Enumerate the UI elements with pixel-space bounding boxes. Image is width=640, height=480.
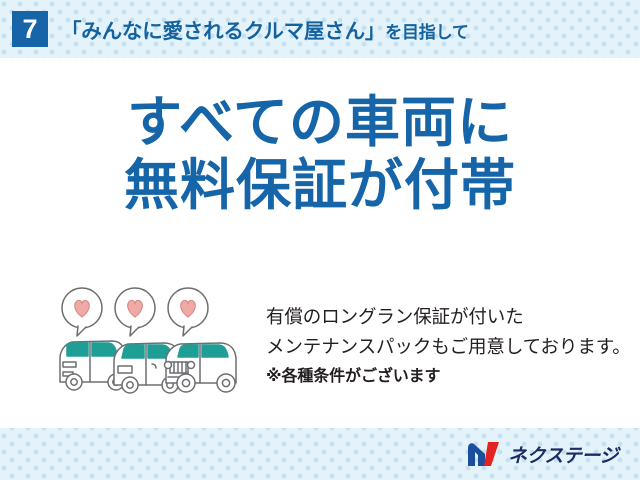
headline-line-1: すべての車両に	[0, 94, 640, 151]
body-text-block: 有償のロングラン保証が付いた メンテナンスパックもご用意しております。 ※各種条…	[266, 286, 640, 390]
header-tagline-tail: を目指して	[385, 18, 469, 43]
header: 7 「みんなに愛されるクルマ屋さん」 を目指して	[0, 0, 640, 58]
content-panel: すべての車両に 無料保証が付帯	[0, 58, 640, 428]
lower-content-row: 有償のロングラン保証が付いた メンテナンスパックもご用意しております。 ※各種条…	[0, 286, 640, 396]
headline-line-2: 無料保証が付帯	[0, 157, 640, 214]
brand-logo: ネクステージ	[467, 441, 618, 468]
headline: すべての車両に 無料保証が付帯	[0, 94, 640, 213]
step-number-badge: 7	[12, 11, 48, 47]
cars-illustration	[52, 286, 252, 396]
heart-bubble-3	[168, 288, 208, 336]
nexstage-n-mark-icon	[467, 441, 501, 467]
cars-illustration-svg	[52, 286, 252, 396]
footer: ネクステージ	[0, 428, 640, 480]
promo-banner: 7 「みんなに愛されるクルマ屋さん」 を目指して すべての車両に 無料保証が付帯	[0, 0, 640, 480]
header-tagline-quote: 「みんなに愛されるクルマ屋さん」	[61, 14, 385, 44]
body-line-2: メンテナンスパックもご用意しております。	[266, 332, 640, 362]
body-note: ※各種条件がございます	[266, 364, 640, 390]
body-line-1: 有償のロングラン保証が付いた	[266, 302, 640, 332]
header-tagline: 「みんなに愛されるクルマ屋さん」 を目指して	[61, 14, 469, 44]
heart-bubble-2	[115, 288, 155, 336]
brand-name: ネクステージ	[508, 441, 618, 468]
heart-bubble-1	[62, 288, 102, 336]
